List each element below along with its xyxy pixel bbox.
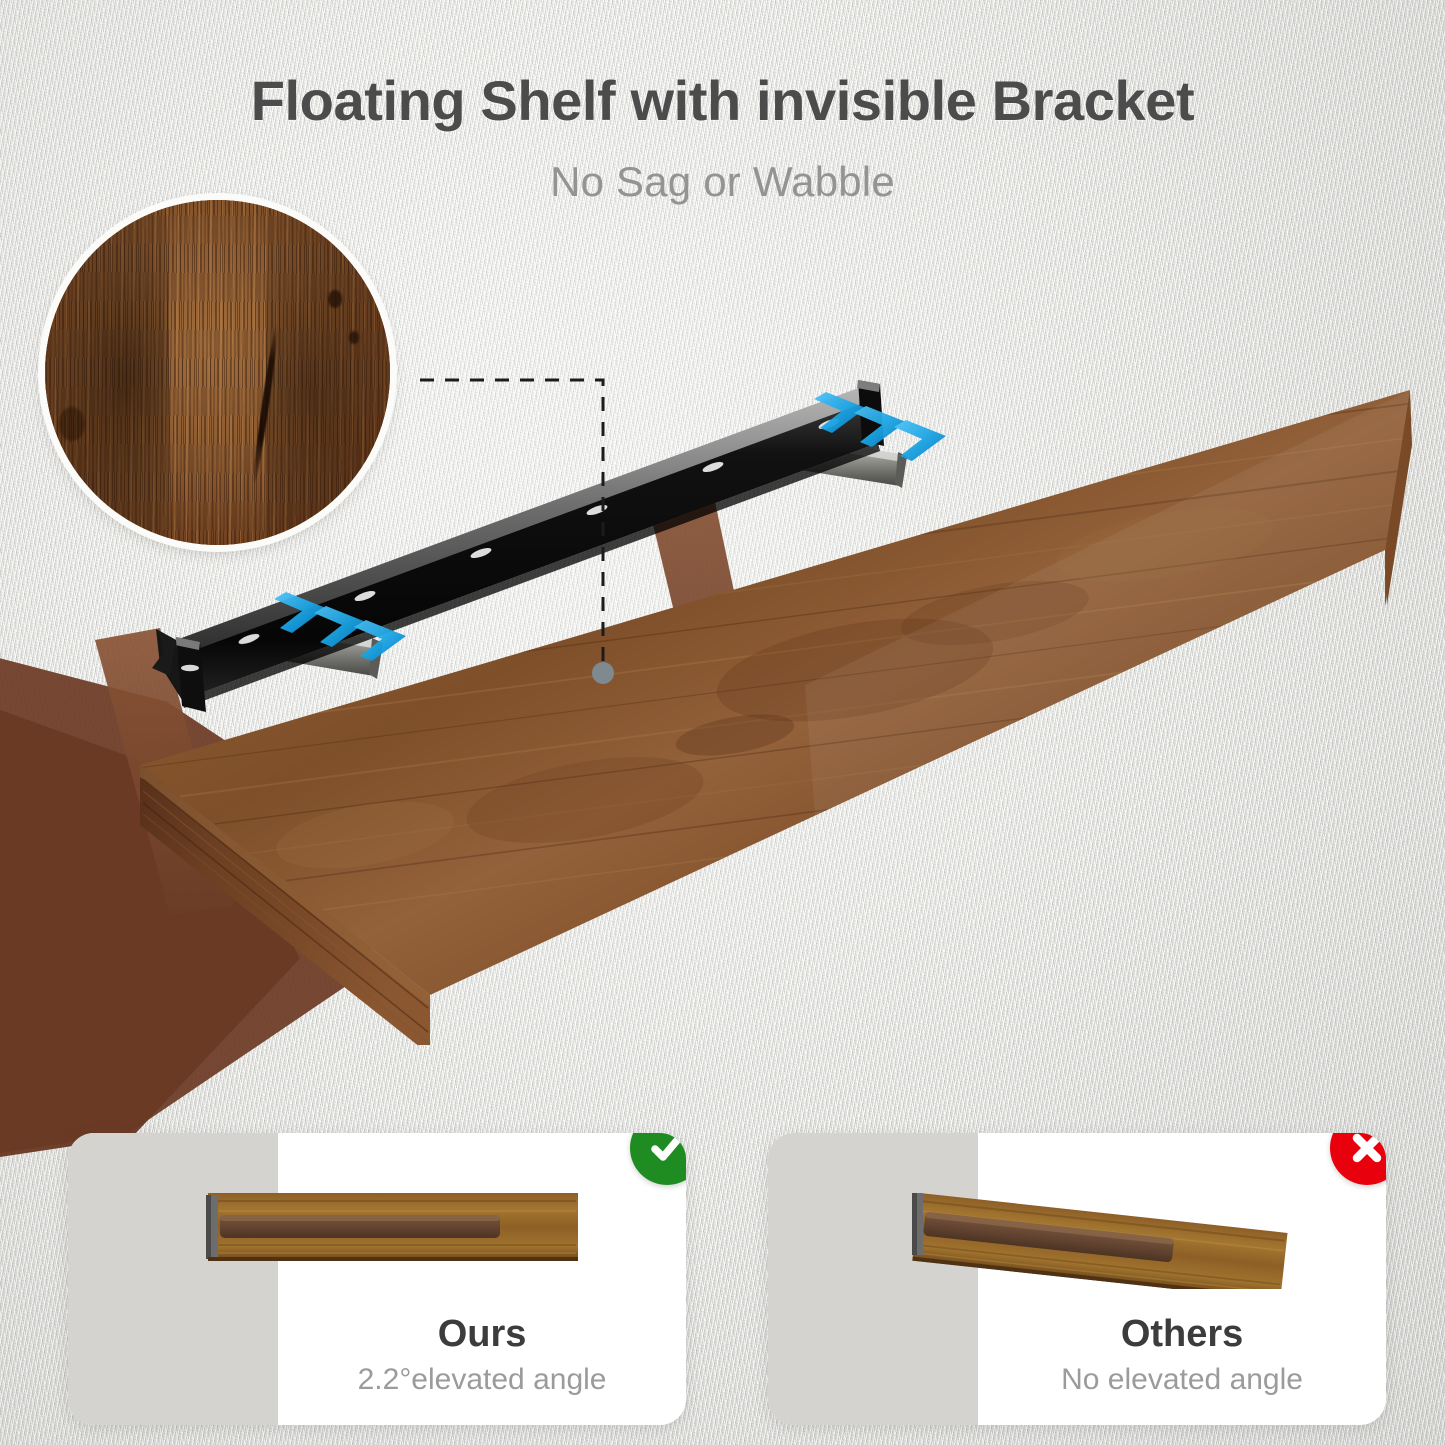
wood-knot-3 <box>59 407 85 441</box>
comparison-card-others[interactable]: Others No elevated angle <box>768 1133 1386 1425</box>
card-caption-ours: Ours 2.2°elevated angle <box>278 1313 686 1399</box>
wood-knot-1 <box>328 290 342 308</box>
wood-knot-2 <box>349 331 359 344</box>
comparison-card-ours[interactable]: Ours 2.2°elevated angle <box>68 1133 686 1425</box>
magnifier-shade-left <box>45 200 169 545</box>
magnifier-shade-right <box>266 200 390 545</box>
wood-grain-magnifier-circle <box>45 200 390 545</box>
page-title: Floating Shelf with invisible Bracket <box>0 68 1445 133</box>
card-caption-others: Others No elevated angle <box>978 1313 1386 1399</box>
card-title-others: Others <box>978 1313 1386 1356</box>
card-subtitle-others: No elevated angle <box>978 1360 1386 1399</box>
comparison-section: Ours 2.2°elevated angle <box>0 1133 1445 1433</box>
infographic-stage: Floating Shelf with invisible Bracket No… <box>0 0 1445 1445</box>
shelf-cross-section-ours <box>68 1167 686 1289</box>
card-subtitle-ours: 2.2°elevated angle <box>278 1360 686 1399</box>
page-subtitle: No Sag or Wabble <box>0 158 1445 206</box>
shelf-cross-section-others <box>768 1167 1386 1289</box>
card-title-ours: Ours <box>278 1313 686 1356</box>
